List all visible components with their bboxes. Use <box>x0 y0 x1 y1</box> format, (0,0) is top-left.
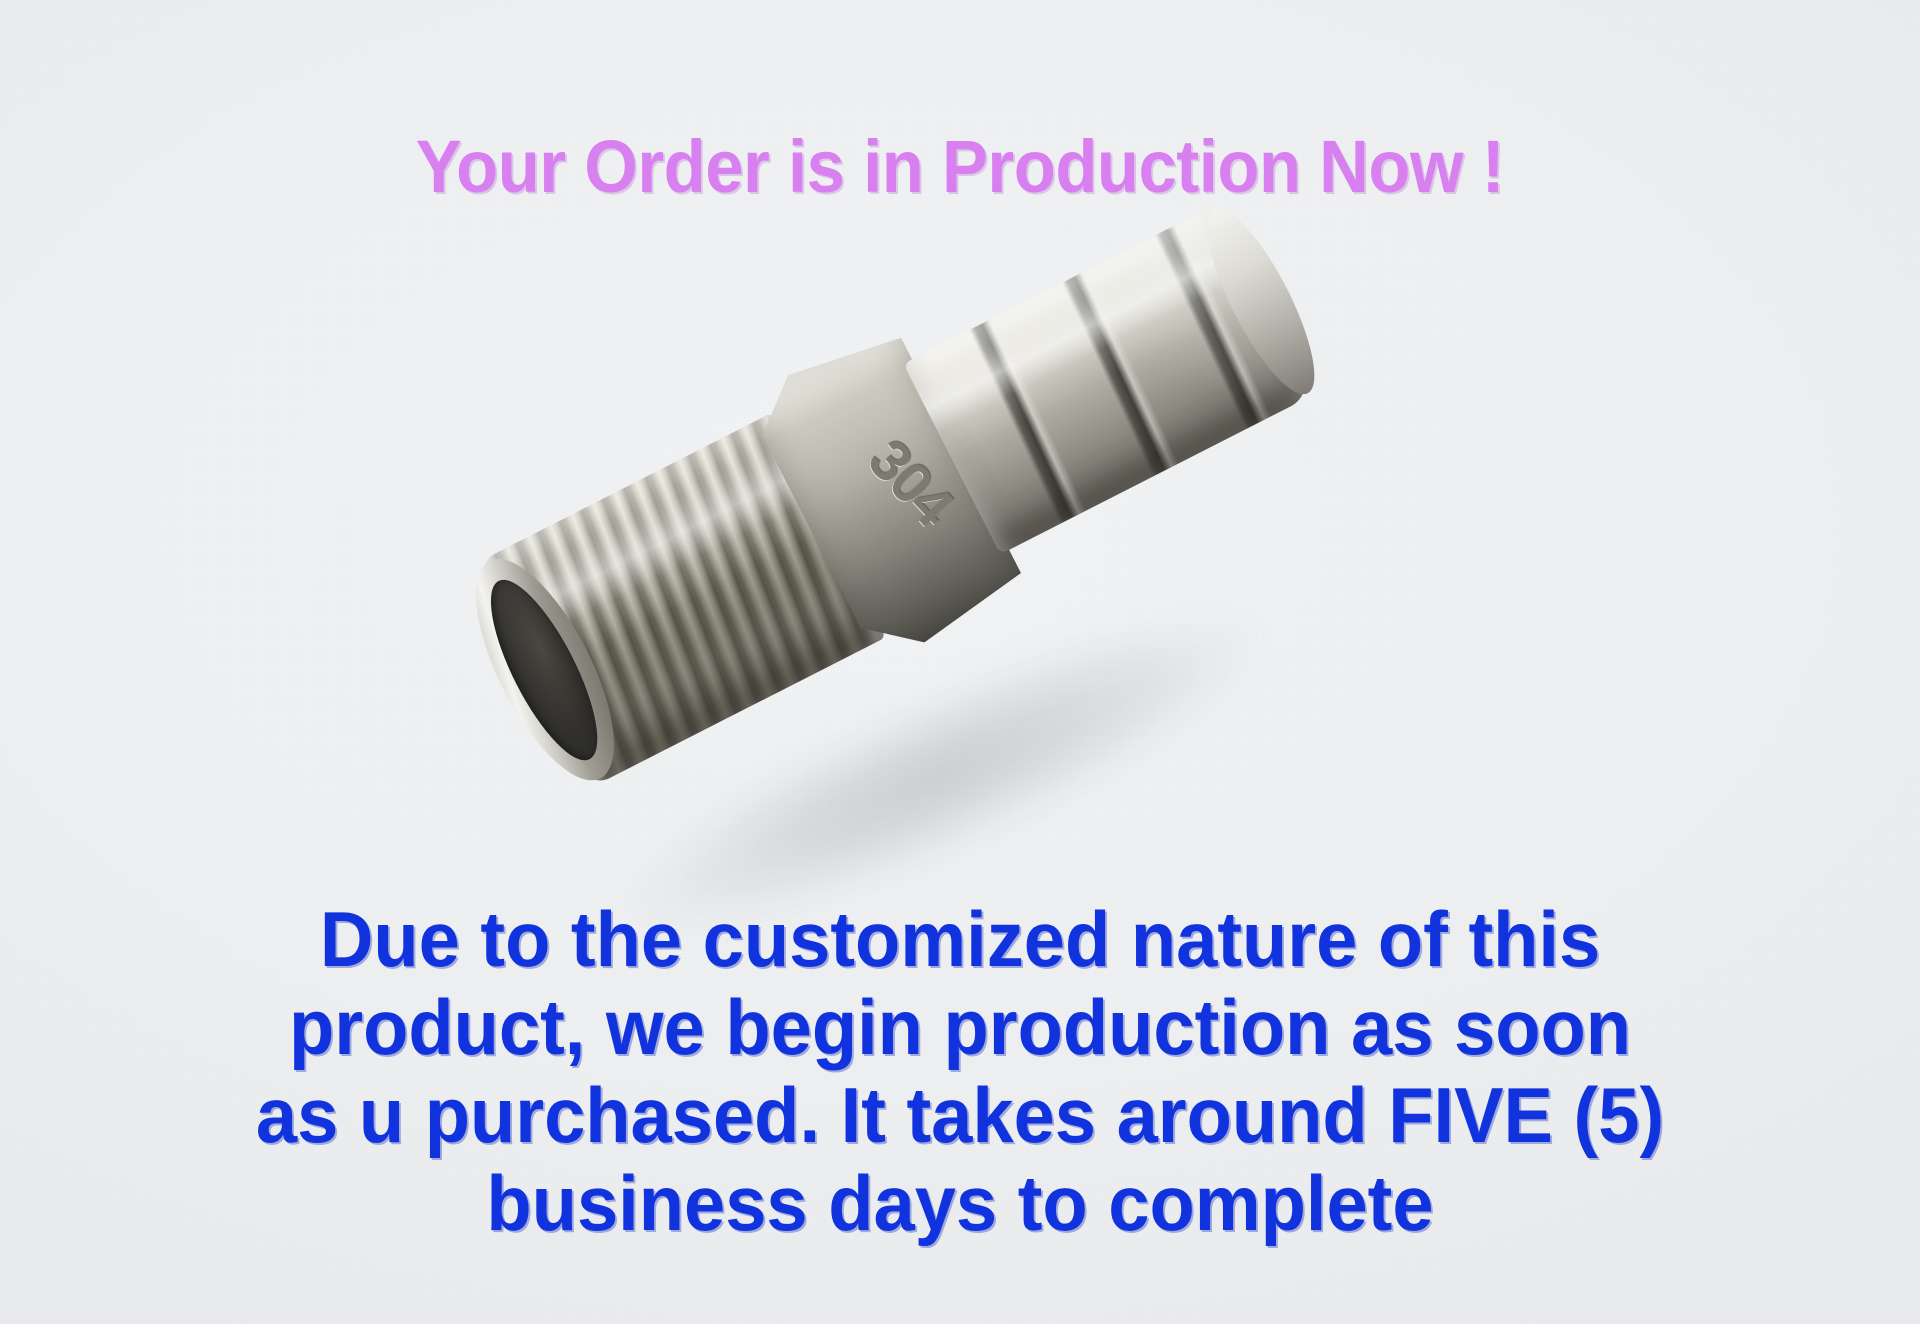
body-line-1: Due to the customized nature of this <box>134 895 1787 983</box>
body-line-4: business days to complete <box>134 1159 1787 1247</box>
body-line-3: as u purchased. It takes around FIVE (5) <box>134 1071 1787 1159</box>
body-message: Due to the customized nature of this pro… <box>134 895 1787 1248</box>
promo-banner: Your Order is in Production Now ! 304 Du… <box>0 0 1920 1324</box>
headline-title: Your Order is in Production Now ! <box>67 128 1853 206</box>
body-line-2: product, we begin production as soon <box>134 983 1787 1071</box>
